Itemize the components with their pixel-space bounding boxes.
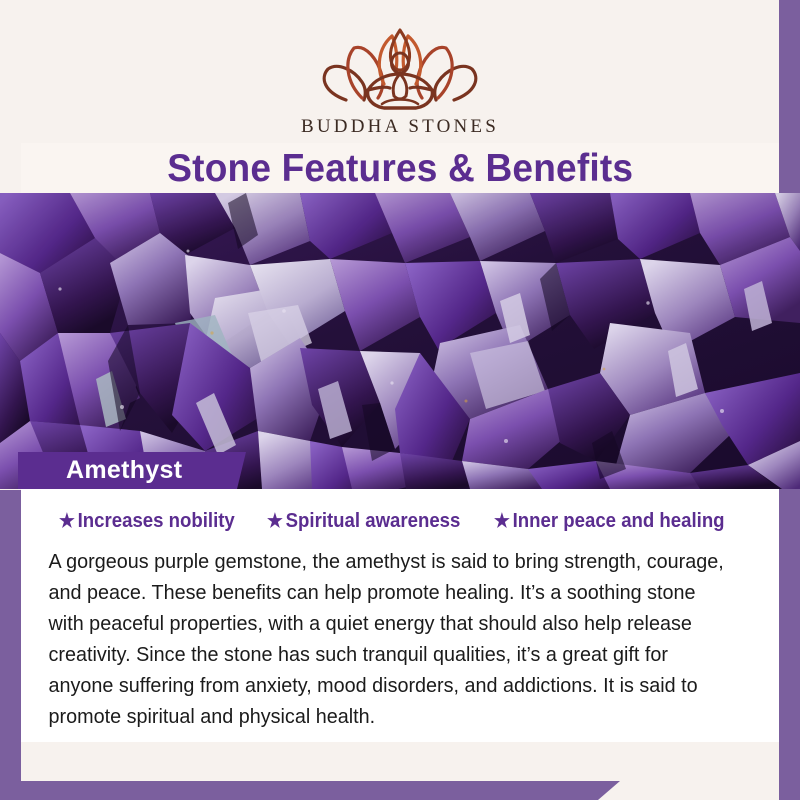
page-title: Stone Features & Benefits: [167, 149, 633, 188]
star-icon: ★: [494, 512, 510, 531]
benefit-label: Increases nobility: [77, 510, 234, 533]
crystal-photo-graphic: [0, 193, 800, 489]
stone-name-tag: Amethyst: [18, 452, 246, 489]
lotus-meditation-figure-icon: [316, 22, 484, 114]
benefit-label: Spiritual awareness: [285, 510, 460, 533]
title-band: Stone Features & Benefits: [21, 143, 779, 193]
brand-logo: BUDDHA STONES: [21, 22, 779, 138]
amethyst-crystal-cluster-photo: [0, 193, 800, 489]
stone-description: A gorgeous purple gemstone, the amethyst…: [35, 546, 739, 732]
frame-border-bottom: [0, 781, 620, 800]
benefits-list: ★ Increases nobility ★ Spiritual awarene…: [35, 510, 765, 533]
content-card: ★ Increases nobility ★ Spiritual awarene…: [21, 489, 779, 742]
star-icon: ★: [267, 512, 283, 531]
star-icon: ★: [59, 512, 75, 531]
benefit-item: ★ Spiritual awareness: [267, 510, 460, 533]
brand-name: BUDDHA STONES: [301, 116, 499, 138]
benefit-item: ★ Inner peace and healing: [494, 510, 725, 533]
stone-name-label: Amethyst: [66, 456, 182, 485]
frame-border-left: [0, 490, 21, 800]
benefit-label: Inner peace and healing: [512, 510, 724, 533]
product-infographic: BUDDHA STONES Stone Features & Benefits: [0, 0, 800, 800]
benefit-item: ★ Increases nobility: [59, 510, 235, 533]
